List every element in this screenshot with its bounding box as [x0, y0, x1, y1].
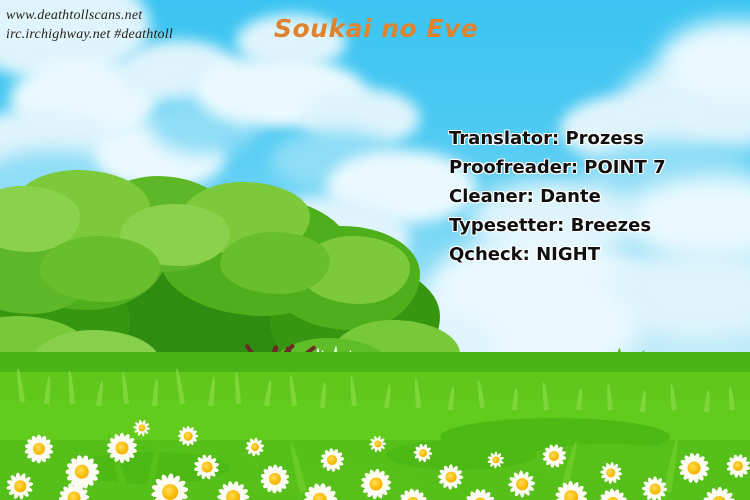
- daisy-flower: [22, 432, 56, 466]
- daisy-center: [251, 443, 259, 451]
- daisy-flower: [148, 470, 192, 500]
- daisy-center: [162, 484, 178, 500]
- daisy-flower: [56, 480, 92, 500]
- daisy-flower: [132, 418, 152, 438]
- daisy-flower: [462, 486, 498, 500]
- daisy-flower: [412, 442, 434, 464]
- daisy-center: [14, 480, 26, 492]
- credit-line: Cleaner: Dante: [449, 182, 666, 211]
- daisy-flower: [640, 474, 670, 500]
- daisy-center: [650, 484, 661, 495]
- watermark-line-1: www.deathtollscans.net: [6, 6, 173, 25]
- credit-line: Proofreader: POINT 7: [449, 153, 666, 182]
- daisy-center: [516, 478, 528, 490]
- daisy-center: [370, 478, 383, 491]
- credit-line: Qcheck: NIGHT: [449, 240, 666, 269]
- daisy-center: [564, 490, 578, 500]
- daisy-flower: [724, 452, 750, 480]
- credit-line: Translator: Prozess: [449, 124, 666, 153]
- daisy-flower: [700, 484, 738, 500]
- daisy-center: [419, 449, 427, 457]
- daisy-flower: [368, 434, 388, 454]
- daisy-flower: [596, 486, 630, 500]
- daisy-flower: [486, 450, 506, 470]
- daisy-flower: [4, 470, 36, 500]
- watermark-line-2: irc.irchighway.net #deathtoll: [6, 25, 173, 44]
- daisy-flower: [300, 480, 340, 500]
- foliage-blob: [40, 236, 160, 302]
- credits-page: www.deathtollscans.net irc.irchighway.ne…: [0, 0, 750, 500]
- daisy-center: [446, 472, 457, 483]
- daisy-center: [688, 462, 701, 475]
- daisy-center: [184, 432, 193, 441]
- daisy-flower: [506, 468, 538, 500]
- daisy-flower: [214, 478, 252, 500]
- daisy-flower: [358, 466, 394, 500]
- foliage-blob: [220, 232, 330, 294]
- daisy-flower: [176, 424, 200, 448]
- daisy-center: [202, 462, 213, 473]
- daisy-flower: [396, 486, 430, 500]
- credit-line: Typesetter: Breezes: [449, 211, 666, 240]
- daisy-center: [116, 442, 129, 455]
- daisy-flower: [676, 450, 712, 486]
- daisy-flower: [552, 478, 590, 500]
- daisy-center: [226, 490, 240, 500]
- daisy-flower: [244, 436, 266, 458]
- daisy-flower: [540, 442, 568, 470]
- credits-block: Translator: Prozess Proofreader: POINT 7…: [449, 124, 666, 269]
- scanlation-watermark: www.deathtollscans.net irc.irchighway.ne…: [6, 6, 173, 44]
- daisy-center: [68, 492, 81, 500]
- daisy-flower: [598, 460, 624, 486]
- daisy-flower: [258, 462, 292, 496]
- page-title: Soukai no Eve: [274, 14, 478, 43]
- daisy-flower: [318, 446, 346, 474]
